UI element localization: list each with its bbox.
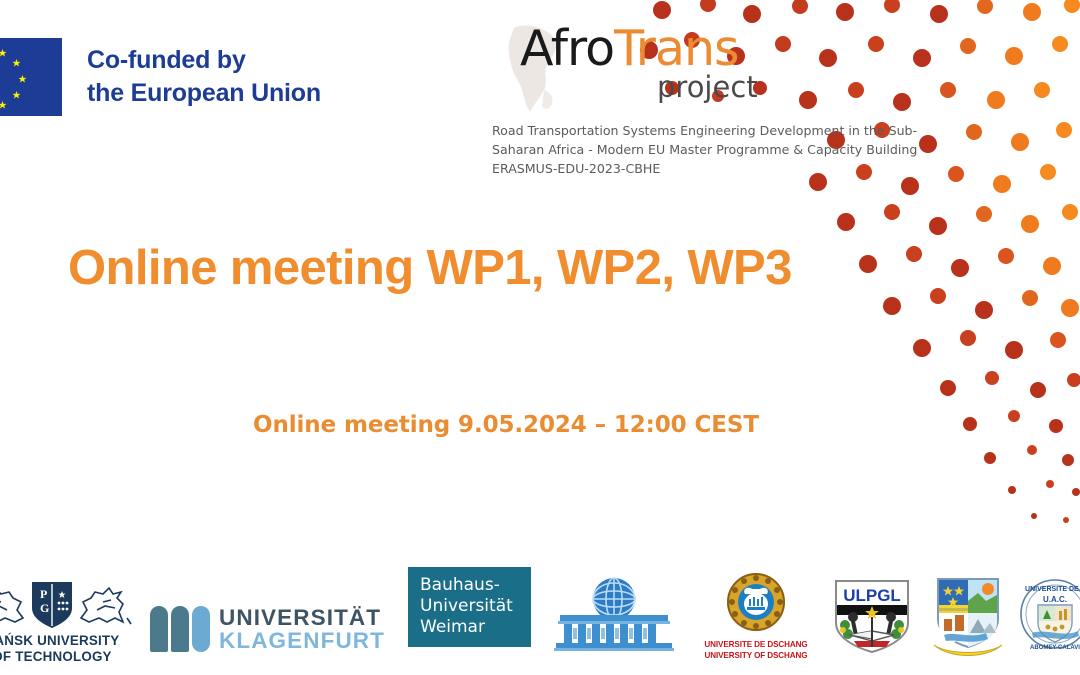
klagenfurt-mark-icon bbox=[150, 606, 210, 652]
gdansk-label-line1: DAŃSK UNIVERSITY bbox=[0, 633, 136, 649]
afrotrans-name: AfroTrans bbox=[520, 24, 739, 73]
presentation-slide: Co-funded by the European Union AfroTran… bbox=[0, 0, 1080, 675]
klagenfurt-bar-1 bbox=[150, 606, 168, 652]
slide-meeting-datetime: Online meeting 9.05.2024 – 12:00 CEST bbox=[253, 412, 759, 438]
gdansk-label: DAŃSK UNIVERSITY OF TECHNOLOGY bbox=[0, 633, 136, 665]
partner-logo-institute bbox=[552, 575, 676, 653]
bauhaus-label: Bauhaus- Universität Weimar bbox=[420, 575, 520, 638]
afrotrans-name-part1: Afro bbox=[520, 20, 614, 77]
bauhaus-label-line1: Bauhaus- bbox=[420, 575, 520, 596]
partner-logos-strip: P G DAŃSK UNIVERSITY OF TECHNOLOGY bbox=[0, 563, 1080, 675]
partner-logo-gdansk: P G DAŃSK UNIVERSITY OF TECHNOLOGY bbox=[0, 578, 136, 665]
svg-text:ABOMEY-CALAVI: ABOMEY-CALAVI bbox=[1030, 645, 1080, 651]
dschang-emblem-icon bbox=[697, 571, 815, 633]
svg-text:G: G bbox=[40, 601, 49, 615]
eu-cofunded-line2: the European Union bbox=[87, 77, 321, 110]
klagenfurt-label: UNIVERSITÄT KLAGENFURT bbox=[219, 606, 385, 653]
afrotrans-wordmark: AfroTrans project bbox=[492, 22, 932, 120]
uac-seal-icon: UNIVERSITE DE L U.A.C. ABOMEY-CALAVI bbox=[1018, 575, 1080, 653]
svg-text:P: P bbox=[40, 587, 47, 601]
gdansk-label-line2: OF TECHNOLOGY bbox=[0, 649, 136, 665]
bauhaus-label-line3: Weimar bbox=[420, 617, 520, 638]
european-union-flag-icon bbox=[0, 38, 62, 116]
afrotrans-description: Road Transportation Systems Engineering … bbox=[492, 121, 924, 178]
dschang-label-line2: UNIVERSITY OF DSCHANG bbox=[697, 651, 815, 661]
eu-cofunded-line1: Co-funded by bbox=[87, 44, 321, 77]
partner-logo-shield-university bbox=[930, 575, 1006, 659]
dschang-label-line1: UNIVERSITE DE DSCHANG bbox=[697, 640, 815, 650]
klagenfurt-bar-2 bbox=[171, 606, 189, 652]
university-quartered-shield-icon bbox=[930, 575, 1006, 659]
eu-cofunded-text: Co-funded by the European Union bbox=[87, 44, 321, 110]
klagenfurt-bar-3 bbox=[192, 606, 210, 652]
partner-logo-uac: UNIVERSITE DE L U.A.C. ABOMEY-CALAVI bbox=[1018, 575, 1080, 653]
uac-acronym: U.A.C. bbox=[1043, 595, 1067, 604]
slide-title: Online meeting WP1, WP2, WP3 bbox=[68, 240, 792, 296]
partner-logo-dschang: UNIVERSITE DE DSCHANG UNIVERSITY OF DSCH… bbox=[697, 571, 815, 661]
afrotrans-project-logo: AfroTrans project Road Transportation Sy… bbox=[492, 22, 932, 178]
eu-cofunded-logo: Co-funded by the European Union bbox=[0, 37, 382, 117]
partner-logo-klagenfurt: UNIVERSITÄT KLAGENFURT bbox=[150, 606, 385, 653]
afrotrans-description-line1: Road Transportation Systems Engineering … bbox=[492, 121, 924, 140]
institute-globe-colonnade-icon bbox=[552, 575, 676, 653]
afrotrans-name-part2: Trans bbox=[614, 20, 739, 77]
gdansk-crest-icon: P G bbox=[0, 578, 136, 630]
klagenfurt-label-line2: KLAGENFURT bbox=[219, 629, 385, 653]
ulpgl-shield-icon: ULPGL bbox=[828, 577, 916, 655]
afrotrans-description-line2: Saharan Africa - Modern EU Master Progra… bbox=[492, 140, 924, 159]
klagenfurt-label-line1: UNIVERSITÄT bbox=[219, 606, 385, 630]
partner-logo-bauhaus-weimar: Bauhaus- Universität Weimar bbox=[408, 567, 531, 647]
partner-logo-ulpgl: ULPGL bbox=[828, 577, 916, 655]
svg-text:UNIVERSITE DE L: UNIVERSITE DE L bbox=[1025, 586, 1080, 593]
ulpgl-acronym: ULPGL bbox=[843, 586, 901, 605]
bauhaus-label-line2: Universität bbox=[420, 596, 520, 617]
afrotrans-subtitle: project bbox=[657, 70, 758, 104]
dschang-label: UNIVERSITE DE DSCHANG UNIVERSITY OF DSCH… bbox=[697, 640, 815, 661]
afrotrans-description-line3: ERASMUS-EDU-2023-CBHE bbox=[492, 159, 924, 178]
